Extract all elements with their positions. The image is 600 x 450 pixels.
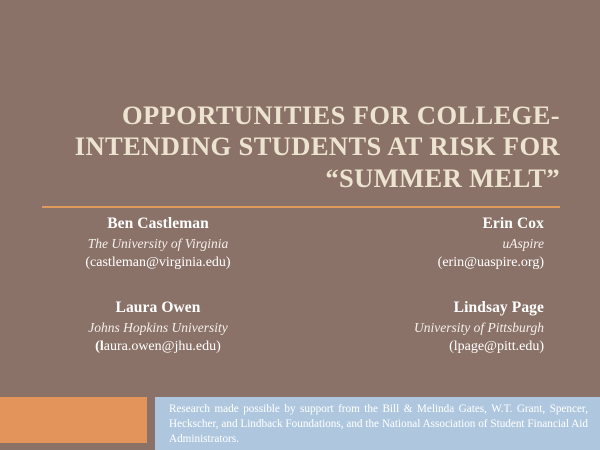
author-name: Lindsay Page [300,298,544,319]
footer-accent-block [0,397,147,443]
author-email[interactable]: (erin@uaspire.org) [300,253,544,272]
presentation-slide: Opportunities for College-Intending Stud… [0,0,600,450]
author-email[interactable]: (lpage@pitt.edu) [300,337,544,356]
author-affiliation: The University of Virginia [30,235,286,253]
title-divider [42,206,560,208]
author-affiliation: University of Pittsburgh [300,319,544,337]
acknowledgment-text: Research made possible by support from t… [169,402,588,447]
author-name: Laura Owen [30,298,286,319]
authors-grid: Ben Castleman The University of Virginia… [30,214,570,356]
title-block: Opportunities for College-Intending Stud… [42,100,560,194]
author-entry-castleman: Ben Castleman The University of Virginia… [30,214,300,272]
author-row: Laura Owen Johns Hopkins University (lau… [30,298,570,356]
author-email[interactable]: (castleman@virginia.edu) [30,253,286,272]
author-row: Ben Castleman The University of Virginia… [30,214,570,272]
author-entry-owen: Laura Owen Johns Hopkins University (lau… [30,298,300,356]
acknowledgment-panel: Research made possible by support from t… [155,397,600,450]
author-entry-page: Lindsay Page University of Pittsburgh (l… [300,298,570,356]
author-affiliation: Johns Hopkins University [30,319,286,337]
author-name: Ben Castleman [30,214,286,235]
author-name: Erin Cox [300,214,544,235]
author-affiliation: uAspire [300,235,544,253]
author-email[interactable]: (laura.owen@jhu.edu) [30,337,286,356]
page-title: Opportunities for College-Intending Stud… [42,100,560,194]
author-entry-cox: Erin Cox uAspire (erin@uaspire.org) [300,214,570,272]
